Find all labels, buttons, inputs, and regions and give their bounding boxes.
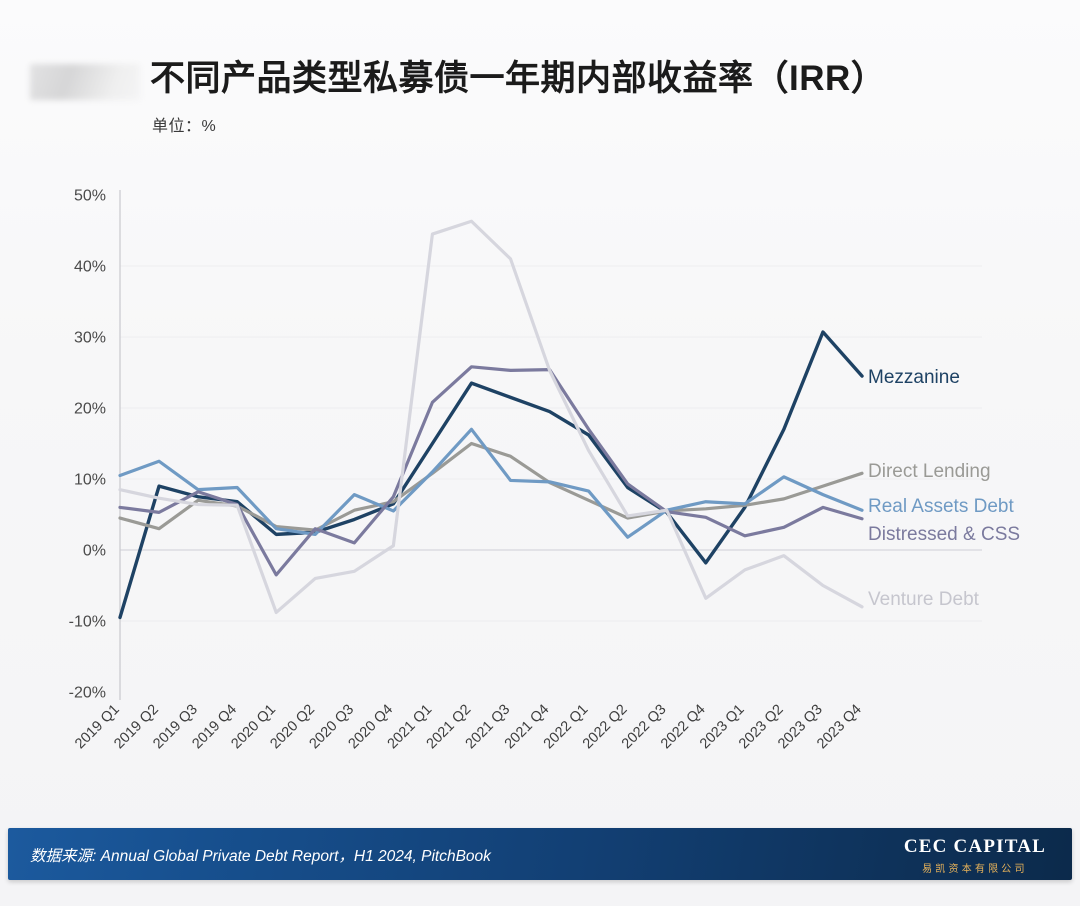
irr-line-chart: -20%-10%0%10%20%30%40%50% 2019 Q12019 Q2…	[0, 160, 1080, 800]
chart-plot-area: -20%-10%0%10%20%30%40%50% 2019 Q12019 Q2…	[0, 160, 1080, 800]
logo-wordmark: CEC CAPITAL	[904, 837, 1046, 858]
page-title: 不同产品类型私募债一年期内部收益率（IRR）	[150, 50, 886, 101]
chart-footer: 数据来源: Annual Global Private Debt Report，…	[8, 828, 1072, 880]
series-line-real-assets-debt	[120, 429, 862, 537]
series-label-real-assets-debt: Real Assets Debt	[868, 496, 1014, 517]
cec-capital-logo: CEC CAPITAL 易凯资本有限公司	[904, 837, 1046, 875]
series-labels: MezzanineDirect LendingReal Assets DebtD…	[868, 367, 1020, 610]
y-axis-tick-label: 20%	[74, 401, 106, 418]
series-lines	[120, 221, 862, 617]
logo-subtitle: 易凯资本有限公司	[904, 860, 1046, 875]
series-label-venture-debt: Venture Debt	[868, 589, 980, 610]
chart-unit-label: 单位：%	[152, 112, 216, 136]
series-line-mezzanine	[120, 332, 862, 617]
y-axis-tick-label: 50%	[74, 188, 106, 205]
y-axis-tick-label: -10%	[69, 614, 106, 631]
y-axis-tick-label: 10%	[74, 472, 106, 489]
y-axis-tick-label: 0%	[83, 543, 106, 560]
y-axis-ticks: -20%-10%0%10%20%30%40%50%	[69, 188, 106, 702]
series-label-mezzanine: Mezzanine	[868, 367, 960, 388]
chart-header: 不同产品类型私募债一年期内部收益率（IRR） 单位：%	[0, 42, 1080, 142]
series-line-distressed-css	[120, 367, 862, 575]
x-axis-ticks: 2019 Q12019 Q22019 Q32019 Q42020 Q12020 …	[72, 702, 865, 753]
redacted-logo-block	[30, 64, 140, 100]
grid-lines	[120, 195, 982, 692]
series-label-distressed-css: Distressed & CSS	[868, 524, 1020, 545]
y-axis-tick-label: 30%	[74, 330, 106, 347]
series-label-direct-lending: Direct Lending	[868, 461, 991, 482]
series-line-venture-debt	[120, 221, 862, 612]
y-axis-tick-label: 40%	[74, 259, 106, 276]
chart-card: 不同产品类型私募债一年期内部收益率（IRR） 单位：% -20%-10%0%10…	[0, 0, 1080, 906]
data-source-text: 数据来源: Annual Global Private Debt Report，…	[30, 844, 491, 866]
y-axis-tick-label: -20%	[69, 685, 106, 702]
